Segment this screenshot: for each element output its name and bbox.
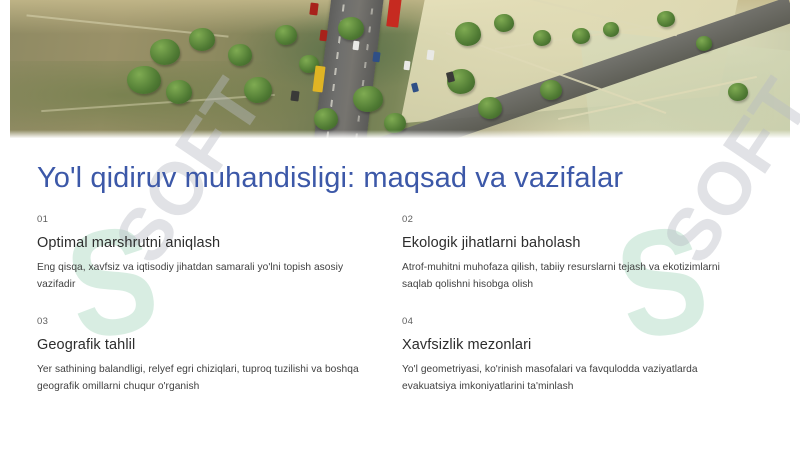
item-description: Eng qisqa, xavfsiz va iqtisodiy jihatdan…: [37, 260, 376, 293]
item-title: Optimal marshrutni aniqlash: [37, 235, 376, 251]
item-number: 01: [37, 214, 376, 225]
tree: [353, 86, 383, 112]
item-title: Xavfsizlik mezonlari: [402, 337, 741, 353]
hero-scene: [10, 0, 790, 138]
hero-bottom-fade: [10, 130, 790, 138]
item-number: 04: [402, 316, 741, 327]
items-grid: 01 Optimal marshrutni aniqlash Eng qisqa…: [37, 214, 767, 395]
tree: [338, 17, 364, 40]
tree: [189, 28, 215, 51]
slide-root: S S SOFT SOFT Yo'l qidiruv muhandisligi:…: [0, 0, 800, 450]
tree: [603, 22, 619, 37]
item-title: Ekologik jihatlarni baholash: [402, 235, 741, 251]
vehicle-car-blue: [372, 52, 380, 63]
tree: [478, 97, 502, 119]
list-item: 03 Geografik tahlil Yer sathining baland…: [37, 316, 402, 395]
tree: [455, 22, 481, 46]
page-title: Yo'l qidiruv muhandisligi: maqsad va vaz…: [37, 162, 623, 195]
tree: [244, 77, 272, 103]
item-title: Geografik tahlil: [37, 337, 376, 353]
item-description: Yer sathining balandligi, relyef egri ch…: [37, 362, 376, 395]
tree: [728, 83, 748, 101]
item-description: Yo'l geometriyasi, ko'rinish masofalari …: [402, 362, 741, 395]
tree: [275, 25, 297, 45]
item-number: 02: [402, 214, 741, 225]
list-item: 04 Xavfsizlik mezonlari Yo'l geometriyas…: [402, 316, 767, 395]
vehicle-car-dark: [290, 91, 299, 102]
hero-image: [10, 0, 790, 138]
tree: [494, 14, 514, 32]
tree: [572, 28, 590, 44]
item-number: 03: [37, 316, 376, 327]
tree: [314, 108, 338, 130]
item-description: Atrof-muhitni muhofaza qilish, tabiiy re…: [402, 260, 741, 293]
list-item: 01 Optimal marshrutni aniqlash Eng qisqa…: [37, 214, 402, 293]
vehicle-car-white: [403, 60, 410, 70]
tree: [533, 30, 551, 46]
tree: [127, 66, 161, 94]
list-item: 02 Ekologik jihatlarni baholash Atrof-mu…: [402, 214, 767, 293]
tree: [150, 39, 180, 65]
tree: [166, 80, 192, 104]
content-area: Yo'l qidiruv muhandisligi: maqsad va vaz…: [0, 138, 800, 450]
